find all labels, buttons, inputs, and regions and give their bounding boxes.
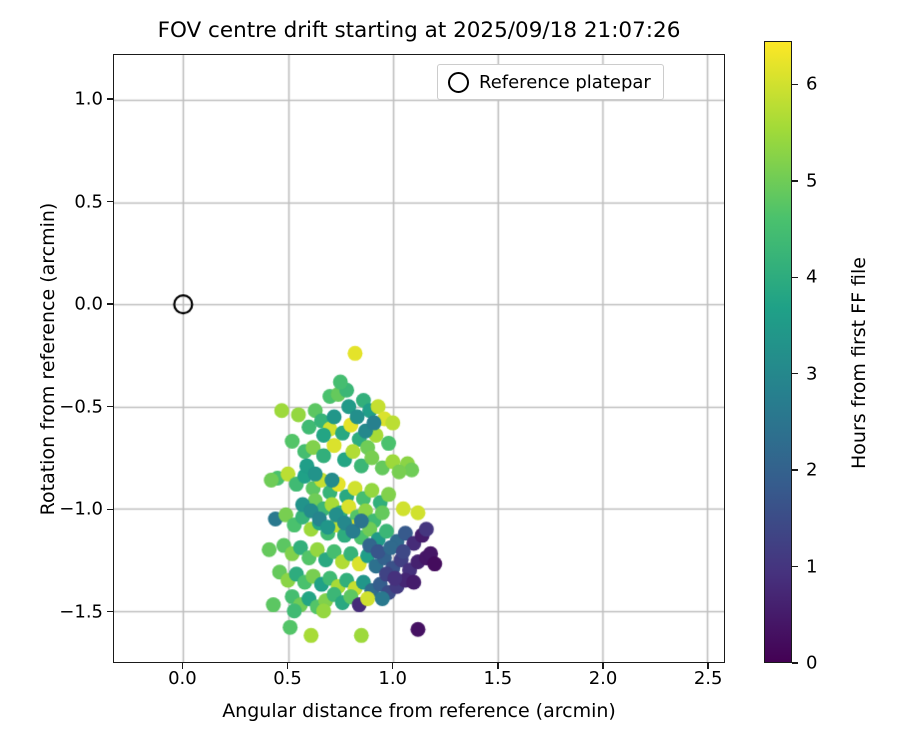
plot-area [113, 54, 725, 663]
colorbar-tick-label: 6 [806, 74, 817, 95]
y-tick-mark [107, 611, 113, 612]
colorbar-tick-label: 4 [806, 267, 817, 288]
y-tick-mark [107, 303, 113, 304]
colorbar-tick-label: 5 [806, 170, 817, 191]
legend: Reference platepar [437, 64, 664, 100]
x-tick-label: 2.0 [589, 668, 618, 689]
x-tick-label: 2.5 [694, 668, 723, 689]
reference-platepar-marker-icon [448, 72, 469, 93]
colorbar-tick-label: 1 [806, 556, 817, 577]
y-axis-label: Rotation from reference (arcmin) [37, 54, 59, 664]
x-tick-mark [602, 663, 603, 669]
y-tick-label: 1.0 [74, 89, 103, 110]
y-tick-label: −1.0 [59, 499, 103, 520]
x-tick-label: 1.5 [484, 668, 513, 689]
y-tick-mark [107, 98, 113, 99]
y-tick-label: −0.5 [59, 396, 103, 417]
page-title: FOV centre drift starting at 2025/09/18 … [113, 18, 725, 43]
colorbar-tick-label: 3 [806, 363, 817, 384]
y-tick-mark [107, 201, 113, 202]
colorbar-tick-mark [792, 566, 798, 567]
colorbar [764, 41, 792, 663]
x-tick-label: 0.5 [273, 668, 302, 689]
y-tick-label: 0.0 [74, 294, 103, 315]
colorbar-tick-mark [792, 373, 798, 374]
y-tick-mark [107, 509, 113, 510]
y-tick-label: 0.5 [74, 191, 103, 212]
figure-container: FOV centre drift starting at 2025/09/18 … [0, 0, 900, 750]
x-tick-label: 0.0 [168, 668, 197, 689]
x-tick-mark [707, 663, 708, 669]
x-tick-mark [392, 663, 393, 669]
legend-label: Reference platepar [479, 72, 651, 93]
colorbar-tick-mark [792, 180, 798, 181]
colorbar-tick-label: 2 [806, 460, 817, 481]
scatter-canvas [114, 55, 724, 662]
colorbar-tick-label: 0 [806, 653, 817, 674]
x-tick-mark [287, 663, 288, 669]
x-tick-mark [182, 663, 183, 669]
colorbar-tick-mark [792, 469, 798, 470]
colorbar-tick-mark [792, 277, 798, 278]
colorbar-tick-mark [792, 84, 798, 85]
x-tick-label: 1.0 [378, 668, 407, 689]
colorbar-tick-mark [792, 662, 798, 663]
colorbar-label: Hours from first FF file [848, 53, 870, 673]
x-tick-mark [497, 663, 498, 669]
x-axis-label: Angular distance from reference (arcmin) [113, 700, 725, 722]
y-tick-label: −1.5 [59, 601, 103, 622]
y-tick-mark [107, 406, 113, 407]
